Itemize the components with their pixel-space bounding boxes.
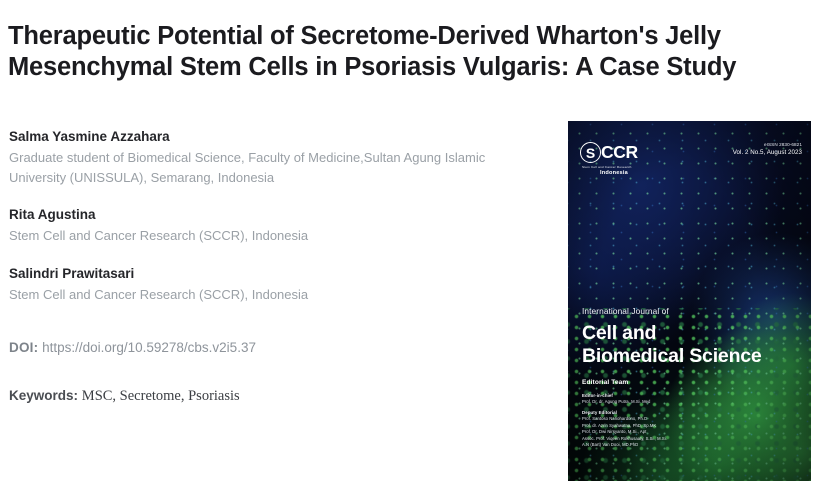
editor-in-chief-name: Prof. Dr. dr. Agung Putra, M.Si. Med (582, 399, 732, 406)
deputy-editor-name: Prof. Santoso Nariohardono, Ph.D (582, 416, 732, 423)
volume-issue-text: Vol. 2 No.5, August 2023 (733, 148, 802, 157)
author-entry: Salindri Prawitasari Stem Cell and Cance… (9, 264, 539, 305)
logo-wordmark: CCR (601, 144, 638, 162)
author-name: Rita Agustina (9, 205, 539, 224)
author-affiliation: Graduate student of Biomedical Science, … (9, 148, 539, 187)
logo-country: Indonesia (600, 170, 658, 176)
doi-line: DOI: https://doi.org/10.59278/cbs.v2i5.3… (9, 338, 256, 357)
sccr-logo: S CCR Stem Cell and Cancer Research Indo… (580, 142, 658, 176)
author-name: Salma Yasmine Azzahara (9, 127, 539, 146)
editorial-team-heading: Editorial Team (582, 378, 732, 388)
keywords-values: MSC, Secretome, Psoriasis (82, 388, 240, 404)
article-landing-page: Therapeutic Potential of Secretome-Deriv… (0, 0, 825, 469)
logo-row: S CCR (580, 142, 658, 163)
doi-link[interactable]: https://doi.org/10.59278/cbs.v2i5.37 (42, 340, 256, 355)
circle-s-icon: S (580, 142, 601, 163)
author-list: Salma Yasmine Azzahara Graduate student … (9, 127, 539, 304)
deputy-editorial-label: Deputy Editorial (582, 409, 732, 416)
journal-title-block: International Journal of Cell and Biomed… (582, 305, 762, 367)
journal-title-line1: Cell and (582, 322, 762, 345)
journal-title-prefix: International Journal of (582, 305, 762, 317)
issn-text: eISSN 2830-6821 (733, 141, 802, 148)
keywords-label: Keywords: (9, 388, 78, 403)
author-affiliation: Stem Cell and Cancer Research (SCCR), In… (9, 285, 539, 305)
deputy-editor-name: Assoc. Prof. Viqeen Rokhusaaty, S.Si., M… (582, 436, 732, 443)
journal-title-line2: Biomedical Science (582, 345, 762, 368)
keywords-line: Keywords: MSC, Secretome, Psoriasis (9, 386, 240, 406)
logo-tagline: Stem Cell and Cancer Research (582, 165, 658, 169)
editorial-team-block: Editorial Team Editor-in-chief Prof. Dr.… (582, 378, 732, 449)
deputy-editor-name: Prof. dr. Azrin Syahwatna, PhD, Sp.MK (582, 423, 732, 430)
page-title: Therapeutic Potential of Secretome-Deriv… (8, 21, 798, 83)
author-entry: Rita Agustina Stem Cell and Cancer Resea… (9, 205, 539, 246)
issue-info: eISSN 2830-6821 Vol. 2 No.5, August 2023 (733, 141, 802, 157)
author-name: Salindri Prawitasari (9, 264, 539, 283)
deputy-editor-name: A.N (Bart) Van Dooi, MD.PhD (582, 442, 732, 449)
deputy-editor-name: Prof. Dr. Dwi Nirsyanto, M.Si., Apt (582, 429, 732, 436)
journal-cover-image[interactable]: S CCR Stem Cell and Cancer Research Indo… (568, 121, 811, 481)
author-affiliation: Stem Cell and Cancer Research (SCCR), In… (9, 226, 539, 246)
editor-in-chief-label: Editor-in-chief (582, 392, 732, 399)
author-entry: Salma Yasmine Azzahara Graduate student … (9, 127, 539, 187)
doi-label: DOI: (9, 340, 38, 355)
